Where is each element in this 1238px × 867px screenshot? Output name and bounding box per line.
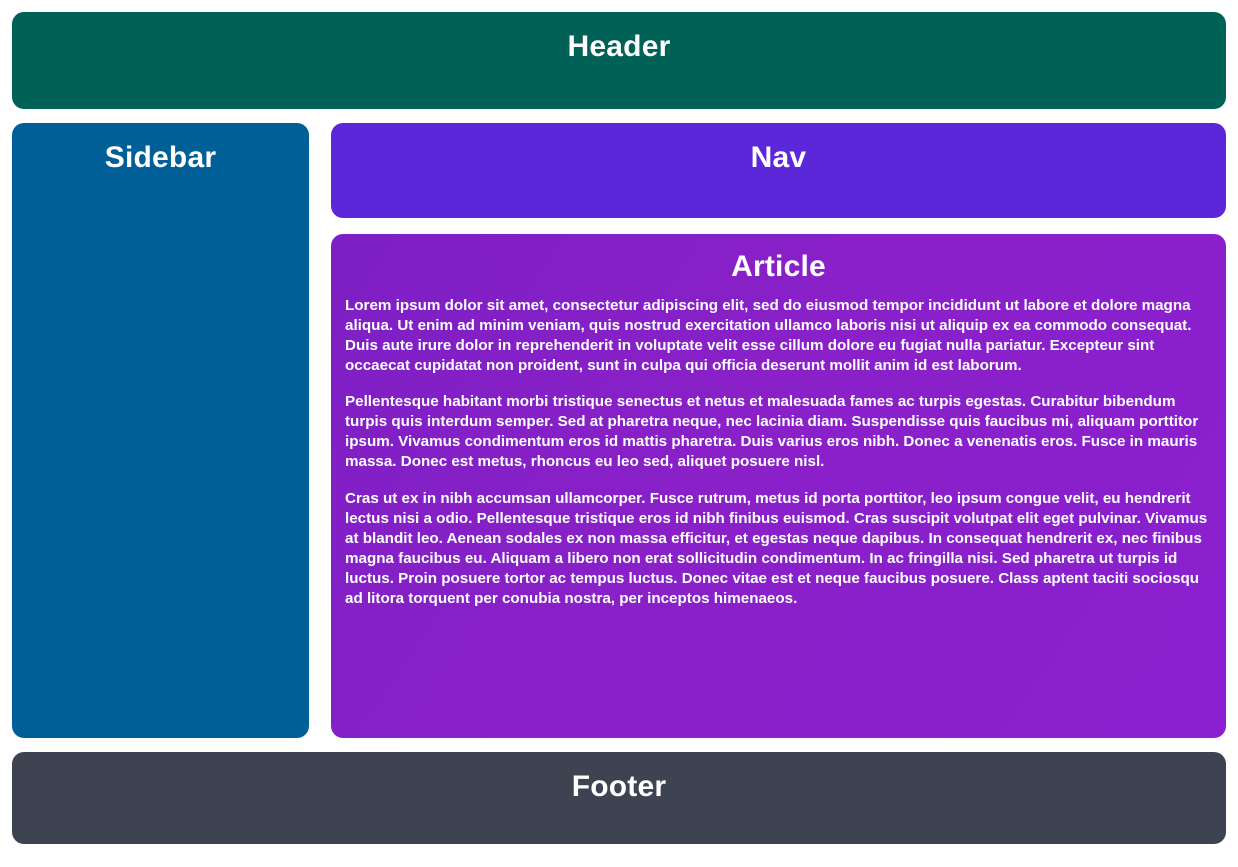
page-layout: Header Sidebar Nav Article Lorem ipsum d… — [0, 0, 1238, 867]
article-body: Lorem ipsum dolor sit amet, consectetur … — [345, 296, 1212, 609]
footer-title: Footer — [12, 770, 1226, 804]
middle-band: Sidebar Nav Article Lorem ipsum dolor si… — [12, 123, 1226, 738]
article-paragraph: Cras ut ex in nibh accumsan ullamcorper.… — [345, 489, 1212, 609]
header-region: Header — [12, 12, 1226, 109]
article-paragraph: Lorem ipsum dolor sit amet, consectetur … — [345, 296, 1212, 376]
sidebar-region: Sidebar — [12, 123, 309, 738]
nav-region[interactable]: Nav — [331, 123, 1226, 218]
sidebar-title: Sidebar — [12, 141, 309, 175]
article-region: Article Lorem ipsum dolor sit amet, cons… — [331, 234, 1226, 738]
header-title: Header — [12, 30, 1226, 64]
article-title: Article — [345, 250, 1212, 284]
nav-title: Nav — [331, 141, 1226, 175]
footer-region: Footer — [12, 752, 1226, 844]
article-paragraph: Pellentesque habitant morbi tristique se… — [345, 392, 1212, 472]
content-column: Nav Article Lorem ipsum dolor sit amet, … — [331, 123, 1226, 738]
